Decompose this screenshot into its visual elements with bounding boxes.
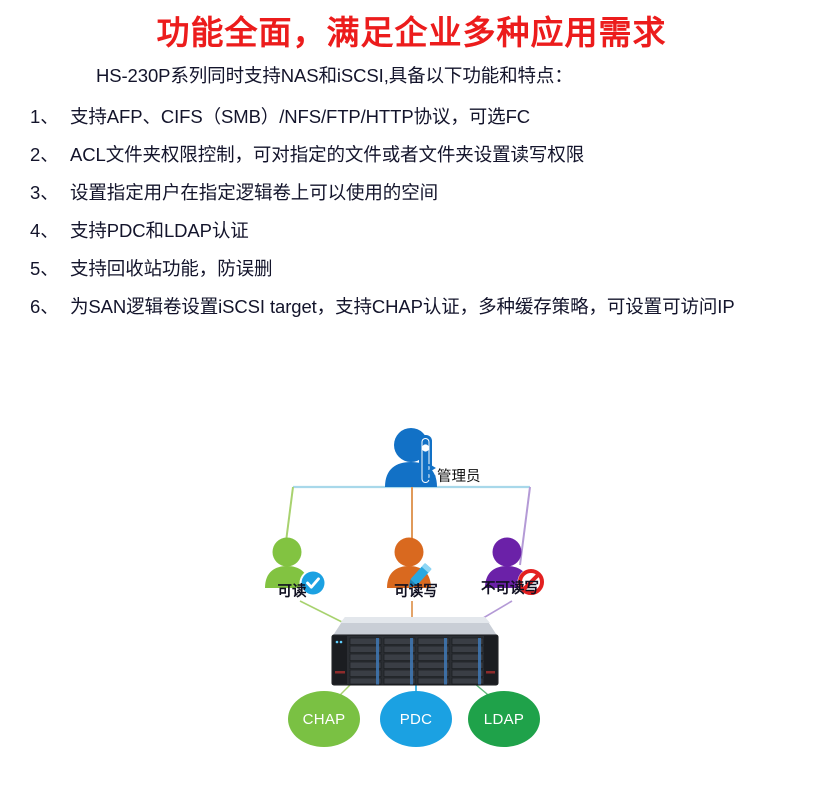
feature-text: 支持回收站功能，防误删 bbox=[70, 250, 805, 288]
feature-item: 2、 ACL文件夹权限控制，可对指定的文件或者文件夹设置读写权限 bbox=[30, 136, 805, 174]
feature-item: 4、 支持PDC和LDAP认证 bbox=[30, 212, 805, 250]
rack-storage-server-icon bbox=[332, 617, 498, 685]
feature-text: 为SAN逻辑卷设置iSCSI target，支持CHAP认证，多种缓存策略，可设… bbox=[70, 288, 805, 326]
feature-number: 3、 bbox=[30, 174, 70, 212]
feature-number: 6、 bbox=[30, 288, 70, 326]
feature-text: 支持PDC和LDAP认证 bbox=[70, 212, 805, 250]
feature-item: 3、 设置指定用户在指定逻辑卷上可以使用的空间 bbox=[30, 174, 805, 212]
feature-number: 4、 bbox=[30, 212, 70, 250]
intro-text: HS-230P系列同时支持NAS和iSCSI,具备以下功能和特点： bbox=[96, 62, 573, 88]
protocol-label-pdc: PDC bbox=[378, 711, 454, 728]
user-label-readwrite: 可读写 bbox=[378, 580, 454, 601]
protocol-label-chap: CHAP bbox=[286, 711, 362, 728]
permission-architecture-diagram: 管理员 可读 可读写 不可读写 CHAP PDC LDAP bbox=[0, 405, 823, 780]
feature-item: 5、 支持回收站功能，防误删 bbox=[30, 250, 805, 288]
user-label-noaccess: 不可读写 bbox=[460, 577, 560, 598]
user-label-read: 可读 bbox=[262, 580, 322, 601]
protocol-label-ldap: LDAP bbox=[466, 711, 542, 728]
admin-label: 管理员 bbox=[437, 465, 481, 486]
page-title: 功能全面，满足企业多种应用需求 bbox=[0, 12, 823, 53]
user-key-icon bbox=[385, 428, 437, 487]
feature-number: 5、 bbox=[30, 250, 70, 288]
feature-text: 设置指定用户在指定逻辑卷上可以使用的空间 bbox=[70, 174, 805, 212]
feature-list: 1、 支持AFP、CIFS（SMB）/NFS/FTP/HTTP协议，可选FC 2… bbox=[30, 98, 805, 326]
feature-item: 6、 为SAN逻辑卷设置iSCSI target，支持CHAP认证，多种缓存策略… bbox=[30, 288, 805, 326]
feature-number: 2、 bbox=[30, 136, 70, 174]
feature-text: ACL文件夹权限控制，可对指定的文件或者文件夹设置读写权限 bbox=[70, 136, 805, 174]
feature-text: 支持AFP、CIFS（SMB）/NFS/FTP/HTTP协议，可选FC bbox=[70, 98, 805, 136]
feature-number: 1、 bbox=[30, 98, 70, 136]
feature-item: 1、 支持AFP、CIFS（SMB）/NFS/FTP/HTTP协议，可选FC bbox=[30, 98, 805, 136]
